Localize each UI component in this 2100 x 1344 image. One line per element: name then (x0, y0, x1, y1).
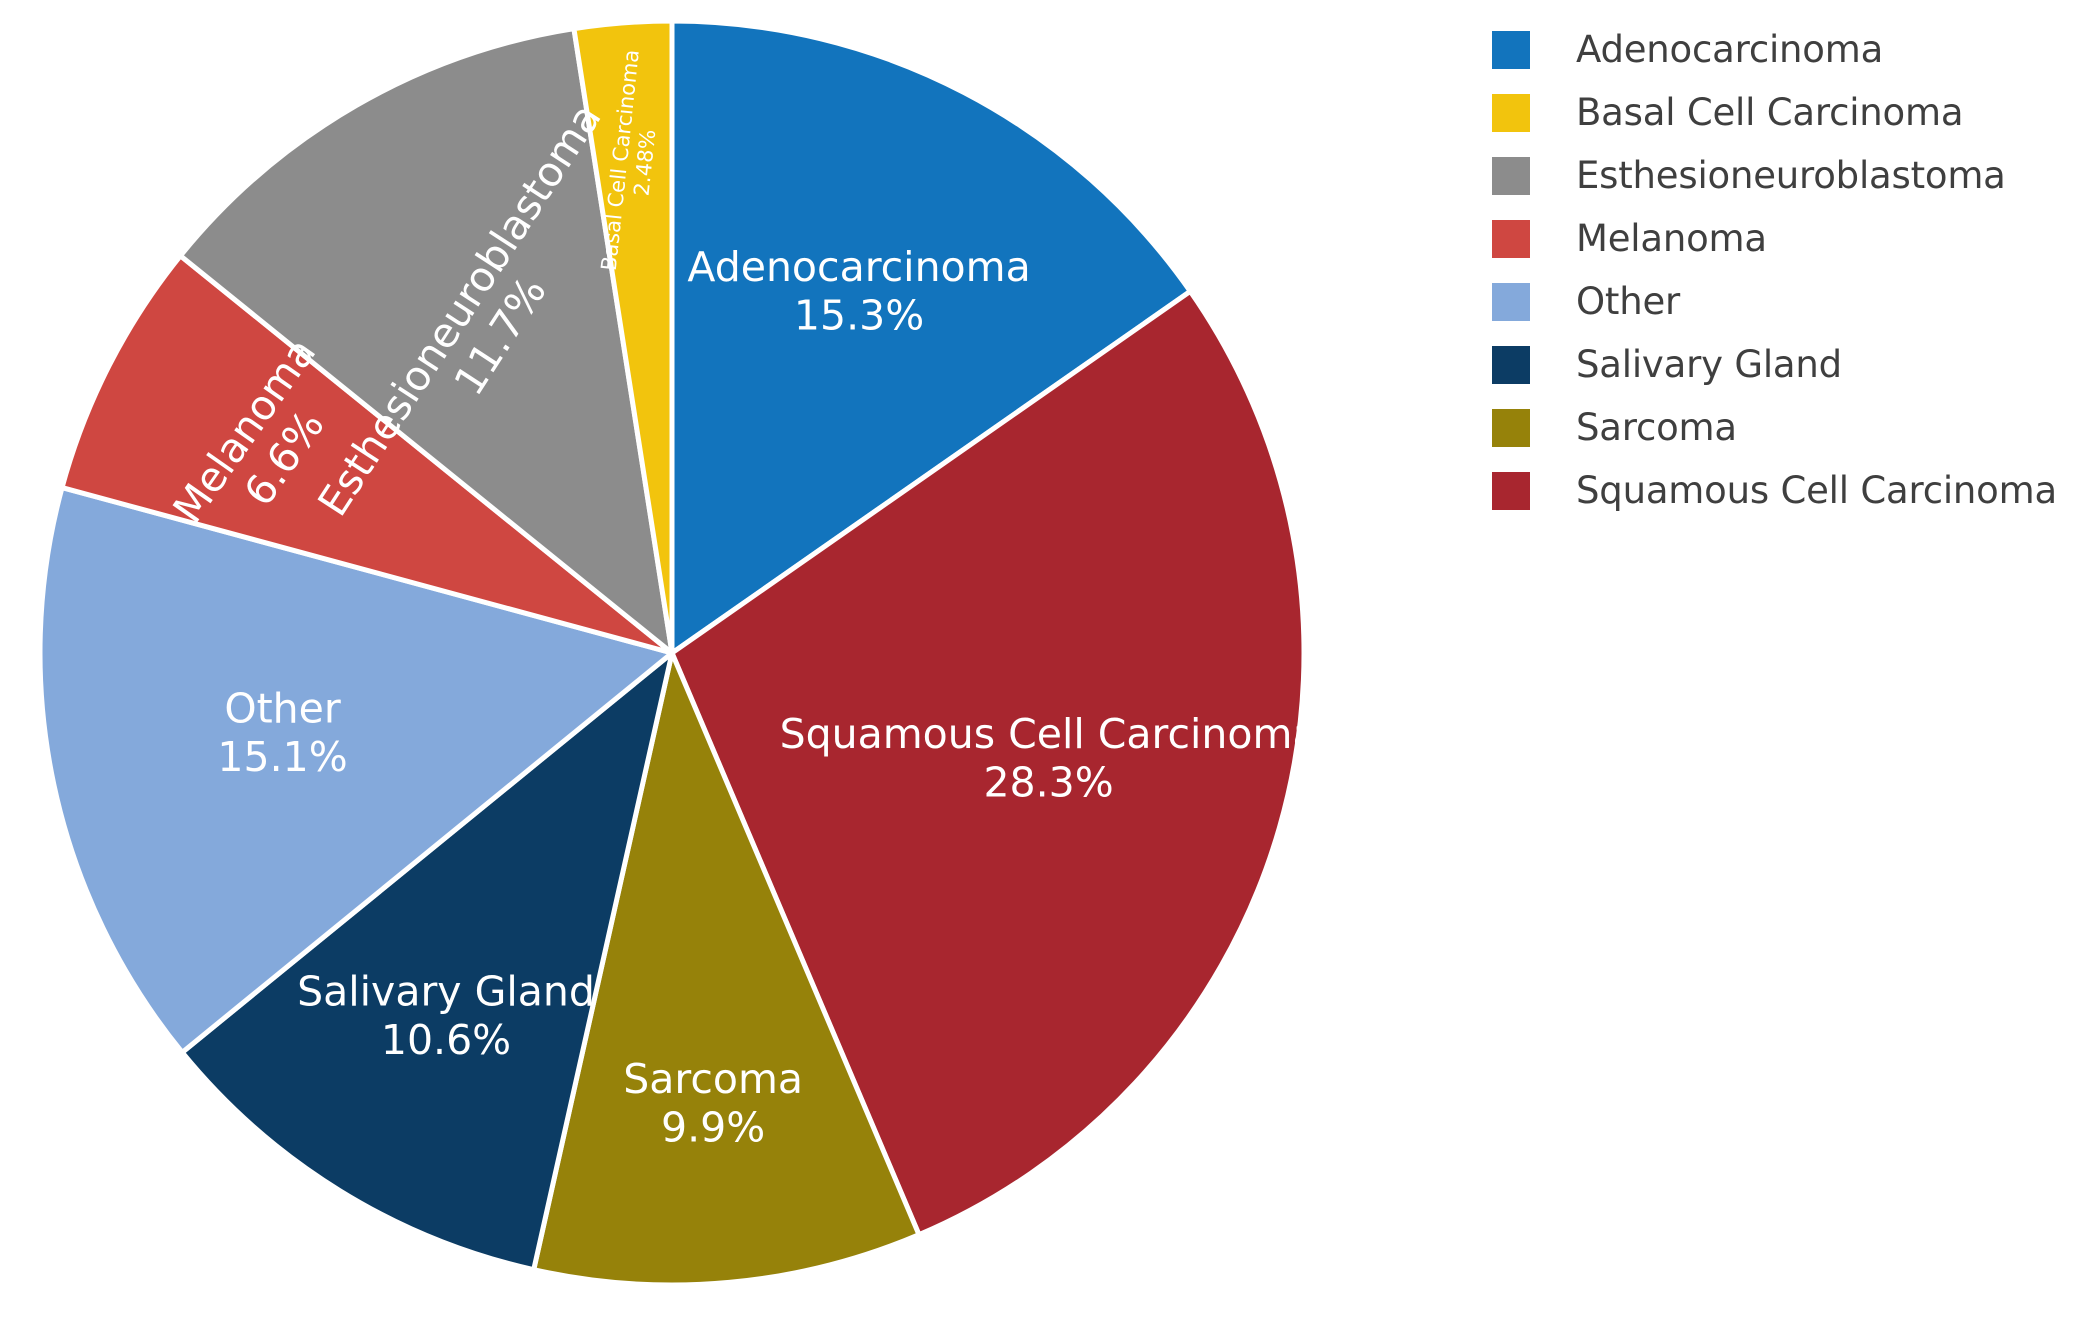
legend-item-label: Other (1576, 280, 1680, 323)
pie-plot-area: Adenocarcinoma15.3%Squamous Cell Carcino… (0, 0, 1400, 1344)
legend-swatch-icon (1492, 346, 1530, 384)
pie-slice-name: Salivary Gland (297, 967, 595, 1015)
legend-item-label: Melanoma (1576, 217, 1767, 260)
pie-svg: Adenocarcinoma15.3%Squamous Cell Carcino… (0, 0, 1400, 1344)
pie-slice-name: Squamous Cell Carcinoma (780, 710, 1318, 758)
legend-item-label: Sarcoma (1576, 406, 1737, 449)
pie-slice-name: Other (224, 685, 341, 733)
legend-item-label: Squamous Cell Carcinoma (1576, 469, 2057, 512)
legend-item[interactable]: Other (1492, 270, 2092, 333)
pie-slice-name: Sarcoma (623, 1055, 803, 1103)
legend-item[interactable]: Sarcoma (1492, 396, 2092, 459)
pie-slice-label: Other15.1% (217, 685, 347, 781)
legend-item-label: Basal Cell Carcinoma (1576, 91, 1963, 134)
pie-slice-percent: 15.1% (217, 733, 347, 781)
legend-swatch-icon (1492, 283, 1530, 321)
legend-swatch-icon (1492, 220, 1530, 258)
legend-swatch-icon (1492, 94, 1530, 132)
legend-item[interactable]: Salivary Gland (1492, 333, 2092, 396)
legend-item[interactable]: Esthesioneuroblastoma (1492, 144, 2092, 207)
legend-swatch-icon (1492, 31, 1530, 69)
pie-slice-percent: 9.9% (661, 1103, 765, 1151)
pie-slice-name: Adenocarcinoma (687, 243, 1030, 291)
legend-swatch-icon (1492, 472, 1530, 510)
legend-swatch-icon (1492, 157, 1530, 195)
legend-item-label: Adenocarcinoma (1576, 28, 1883, 71)
chart-legend: AdenocarcinomaBasal Cell CarcinomaEsthes… (1492, 18, 2092, 522)
legend-item[interactable]: Basal Cell Carcinoma (1492, 81, 2092, 144)
legend-item-label: Salivary Gland (1576, 343, 1842, 386)
legend-item[interactable]: Melanoma (1492, 207, 2092, 270)
legend-swatch-icon (1492, 409, 1530, 447)
legend-item[interactable]: Adenocarcinoma (1492, 18, 2092, 81)
pie-slice-percent: 15.3% (794, 292, 924, 340)
legend-item[interactable]: Squamous Cell Carcinoma (1492, 459, 2092, 522)
pie-slice-percent: 10.6% (381, 1016, 511, 1064)
pie-chart-figure: Adenocarcinoma15.3%Squamous Cell Carcino… (0, 0, 2100, 1344)
legend-item-label: Esthesioneuroblastoma (1576, 154, 2006, 197)
pie-slice-percent: 28.3% (983, 758, 1113, 806)
